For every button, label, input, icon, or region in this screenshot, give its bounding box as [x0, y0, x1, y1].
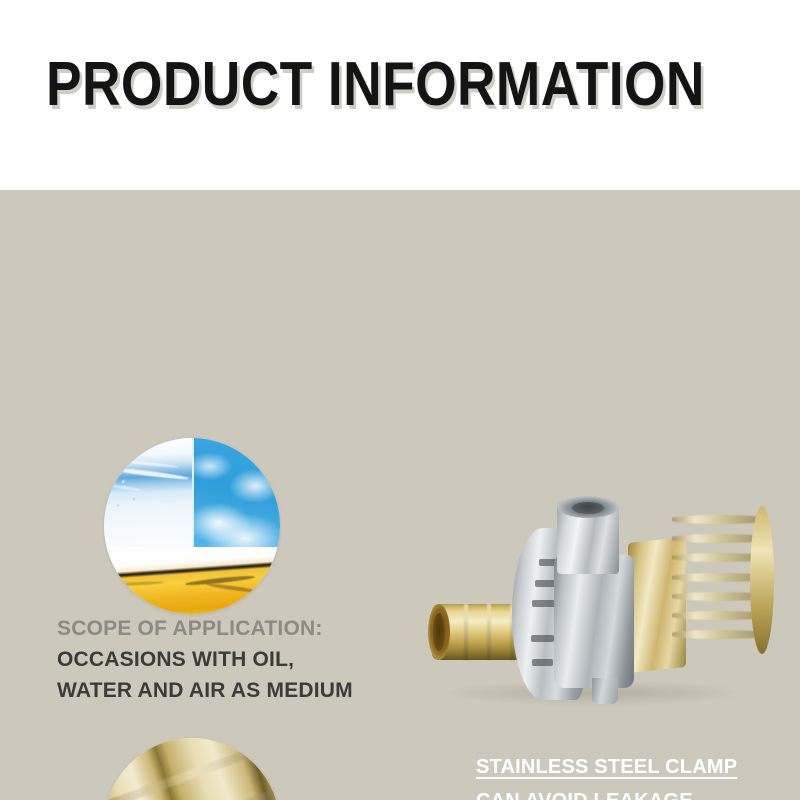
barb-bore — [433, 613, 445, 651]
brass-texture-image — [104, 738, 280, 800]
content-body: SCOPE OF APPLICATION: OCCASIONS WITH OIL… — [0, 190, 800, 800]
page-header: PRODUCT INFORMATION — [0, 0, 800, 190]
brass-barb-macro-icon — [104, 738, 280, 800]
scope-value-line-2: WATER AND AIR AS MEDIUM — [57, 675, 437, 706]
chrome-body-part — [554, 554, 634, 688]
scope-of-application-caption: SCOPE OF APPLICATION: OCCASIONS WITH OIL… — [57, 613, 437, 706]
scope-label: SCOPE OF APPLICATION: — [57, 613, 437, 644]
chrome-stub — [592, 678, 618, 704]
product-photo — [424, 492, 772, 714]
thread-end-cap — [750, 506, 774, 654]
oil-segment-icon — [104, 547, 280, 614]
feature-line-2: CAN AVOID LEAKAGE — [476, 784, 776, 800]
page-title: PRODUCT INFORMATION — [46, 52, 705, 118]
sky-segment-icon — [192, 438, 280, 547]
hex-screw-socket — [572, 502, 604, 514]
clamp-feature-text: STAINLESS STEEL CLAMP CAN AVOID LEAKAGE … — [476, 750, 776, 800]
product-information-page: PRODUCT INFORMATION SCOPE OF APPLICATION… — [0, 0, 800, 800]
scope-of-application-image — [104, 438, 280, 614]
scope-value-line-1: OCCASIONS WITH OIL, — [57, 644, 437, 675]
water-segment-icon — [104, 438, 192, 547]
feature-line-1: STAINLESS STEEL CLAMP — [476, 750, 776, 784]
